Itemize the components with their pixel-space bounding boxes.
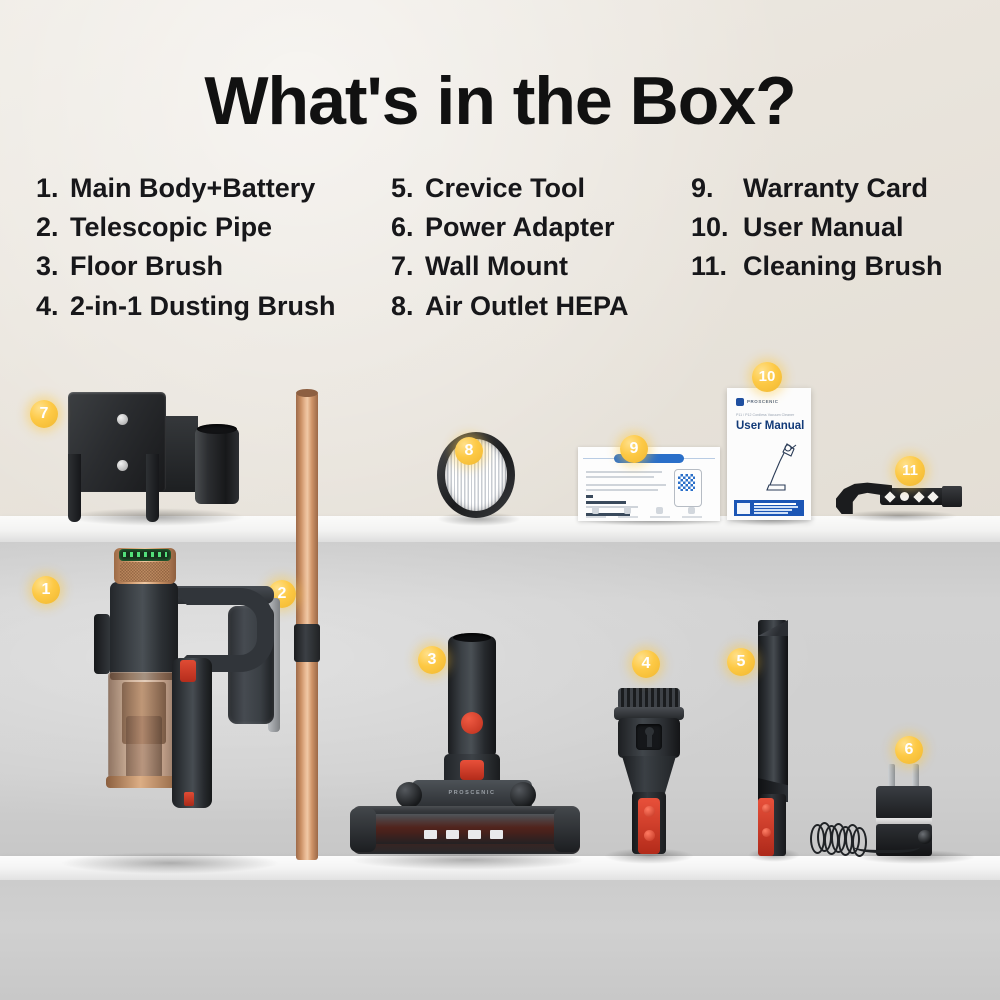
adapter-dc-jack [918,830,932,844]
benefit-label [650,516,670,518]
list-item-label: Wall Mount [425,250,568,283]
benefit-icon [656,507,663,514]
floor-brush-tube [448,636,496,758]
roller-endcap-left [350,808,376,852]
latch-nub-icon [762,804,771,813]
release-button [184,792,194,806]
list-item: 8. Air Outlet HEPA [391,290,691,323]
dust-cup-base-ring [106,776,182,788]
list-item: 2. Telescopic Pipe [36,211,391,244]
list-item-number: 3. [36,250,70,283]
cyclone-inner [126,716,162,778]
manual-footer-line [754,509,792,511]
roller-fin [446,830,459,839]
list-item-label: Crevice Tool [425,172,585,205]
list-item-label: Cleaning Brush [743,250,943,283]
callout-badge-3: 3 [418,646,446,674]
wall-mount-arm-right [146,454,159,522]
wall-mount-cylinder [195,428,239,504]
product-crevice-tool [754,620,794,860]
list-item: 9. Warranty Card [691,172,981,205]
latch-nub-icon [644,830,655,841]
card-text-line [586,471,662,473]
card-text-line [586,476,654,478]
list-item-number: 10. [691,211,743,244]
crevice-tool-blade [758,620,788,798]
callout-badge-9: 9 [620,435,648,463]
latch-nub-icon [644,806,655,817]
infographic-canvas: What's in the Box? 1. Main Body+Battery … [0,0,1000,1000]
brush-wheel-right [510,782,536,808]
user-manual-cover: PROSCENIC P11 / P12 Cordless Vacuum Clea… [727,388,811,520]
list-item-number: 2. [36,211,70,244]
product-warranty-card [578,447,720,521]
dusting-brush-taper [622,756,676,796]
wall-mount-arm-left [68,454,81,522]
manual-footer-line [754,512,788,514]
motor-barrel [110,582,178,680]
benefit-icon [624,507,631,514]
card-subhead-customer-support [586,501,626,504]
product-2in1-dusting-brush [608,688,688,860]
cleaning-brush-tip [942,486,962,507]
led-display-readout [123,552,167,557]
page-title: What's in the Box? [0,62,1000,140]
product-wall-mount [60,392,240,524]
benefit-label [618,516,638,518]
screw-hole-icon [117,414,128,425]
list-item-number: 5. [391,172,425,205]
neck-release-red [460,760,484,780]
benefit-icon [688,507,695,514]
callout-badge-7: 7 [30,400,58,428]
contents-column-1: 1. Main Body+Battery 2. Telescopic Pipe … [36,172,391,323]
list-item: 5. Crevice Tool [391,172,691,205]
adapter-upper-housing [876,786,932,820]
product-main-body-battery [62,548,262,868]
roller-fin [490,830,503,839]
list-item-number: 1. [36,172,70,205]
roller-fin [424,830,437,839]
roller-brushbar [364,814,568,844]
list-item-label: 2-in-1 Dusting Brush [70,290,336,323]
list-item-number: 11. [691,250,743,283]
product-user-manual: PROSCENIC P11 / P12 Cordless Vacuum Clea… [727,388,811,520]
roller-fin [468,830,481,839]
list-item: 4. 2-in-1 Dusting Brush [36,290,391,323]
pipe-collar [294,624,320,662]
list-item: 6. Power Adapter [391,211,691,244]
list-item: 10. User Manual [691,211,981,244]
exhaust-mesh [120,562,170,582]
list-item-number: 7. [391,250,425,283]
benefit-label [586,516,606,518]
list-item: 11. Cleaning Brush [691,250,981,283]
power-trigger [180,660,196,682]
list-item-label: Main Body+Battery [70,172,315,205]
roller-endcap-right [554,808,580,852]
callout-badge-10: 10 [752,362,782,392]
contents-column-3: 9. Warranty Card 10. User Manual 11. Cle… [691,172,981,323]
list-item-number: 9. [691,172,743,205]
adapter-coiled-cable [810,822,866,856]
manual-footer-thumbnail [737,503,750,514]
callout-badge-4: 4 [632,650,660,678]
callout-badge-11: 11 [895,456,925,486]
body-side-hook [94,614,110,674]
list-item-label: Telescopic Pipe [70,211,272,244]
list-item-number: 4. [36,290,70,323]
list-item: 3. Floor Brush [36,250,391,283]
latch-nub-icon [762,828,771,837]
manual-footer-company [754,503,796,505]
floor-brush-brand: PROSCENIC [436,790,508,796]
card-text-line [586,489,658,491]
manual-footer-band [734,500,804,516]
manual-subtitle: P11 / P12 Cordless Vacuum Cleaner [736,413,794,417]
list-item-label: Warranty Card [743,172,928,205]
brush-wheel-left [396,782,422,808]
callout-badge-8: 8 [455,437,483,465]
pipe-top-opening [296,389,318,397]
contents-column-2: 5. Crevice Tool 6. Power Adapter 7. Wall… [391,172,691,323]
manual-brand: PROSCENIC [747,399,779,404]
screw-hole-icon [117,460,128,471]
dusting-brush-intake-slot [636,724,662,750]
list-item-number: 6. [391,211,425,244]
card-text-line [586,484,666,486]
callout-badge-5: 5 [727,648,755,676]
brand-logo-icon [736,398,744,406]
manual-title: User Manual [736,420,804,432]
benefit-icon [592,507,599,514]
release-button-red [461,712,483,734]
callout-badge-6: 6 [895,736,923,764]
list-item: 1. Main Body+Battery [36,172,391,205]
product-telescopic-pipe [296,392,318,860]
front-panel [0,880,1000,1000]
card-subhead-mark [586,495,593,498]
list-item-label: Air Outlet HEPA [425,290,629,323]
product-power-adapter [862,764,972,860]
list-item-label: Floor Brush [70,250,223,283]
list-item: 7. Wall Mount [391,250,691,283]
manual-footer-line [754,506,798,508]
callout-badge-1: 1 [32,576,60,604]
vacuum-illustration-icon [757,440,801,498]
brush-cutout-circle [900,492,909,501]
product-floor-brush: PROSCENIC [348,636,584,862]
list-item-label: User Manual [743,211,904,244]
product-cleaning-brush [836,478,962,516]
list-item-label: Power Adapter [425,211,615,244]
list-item-number: 8. [391,290,425,323]
benefit-label [682,516,702,518]
contents-list: 1. Main Body+Battery 2. Telescopic Pipe … [36,172,986,323]
warranty-card-face [578,447,720,521]
qr-code-icon [678,474,695,491]
